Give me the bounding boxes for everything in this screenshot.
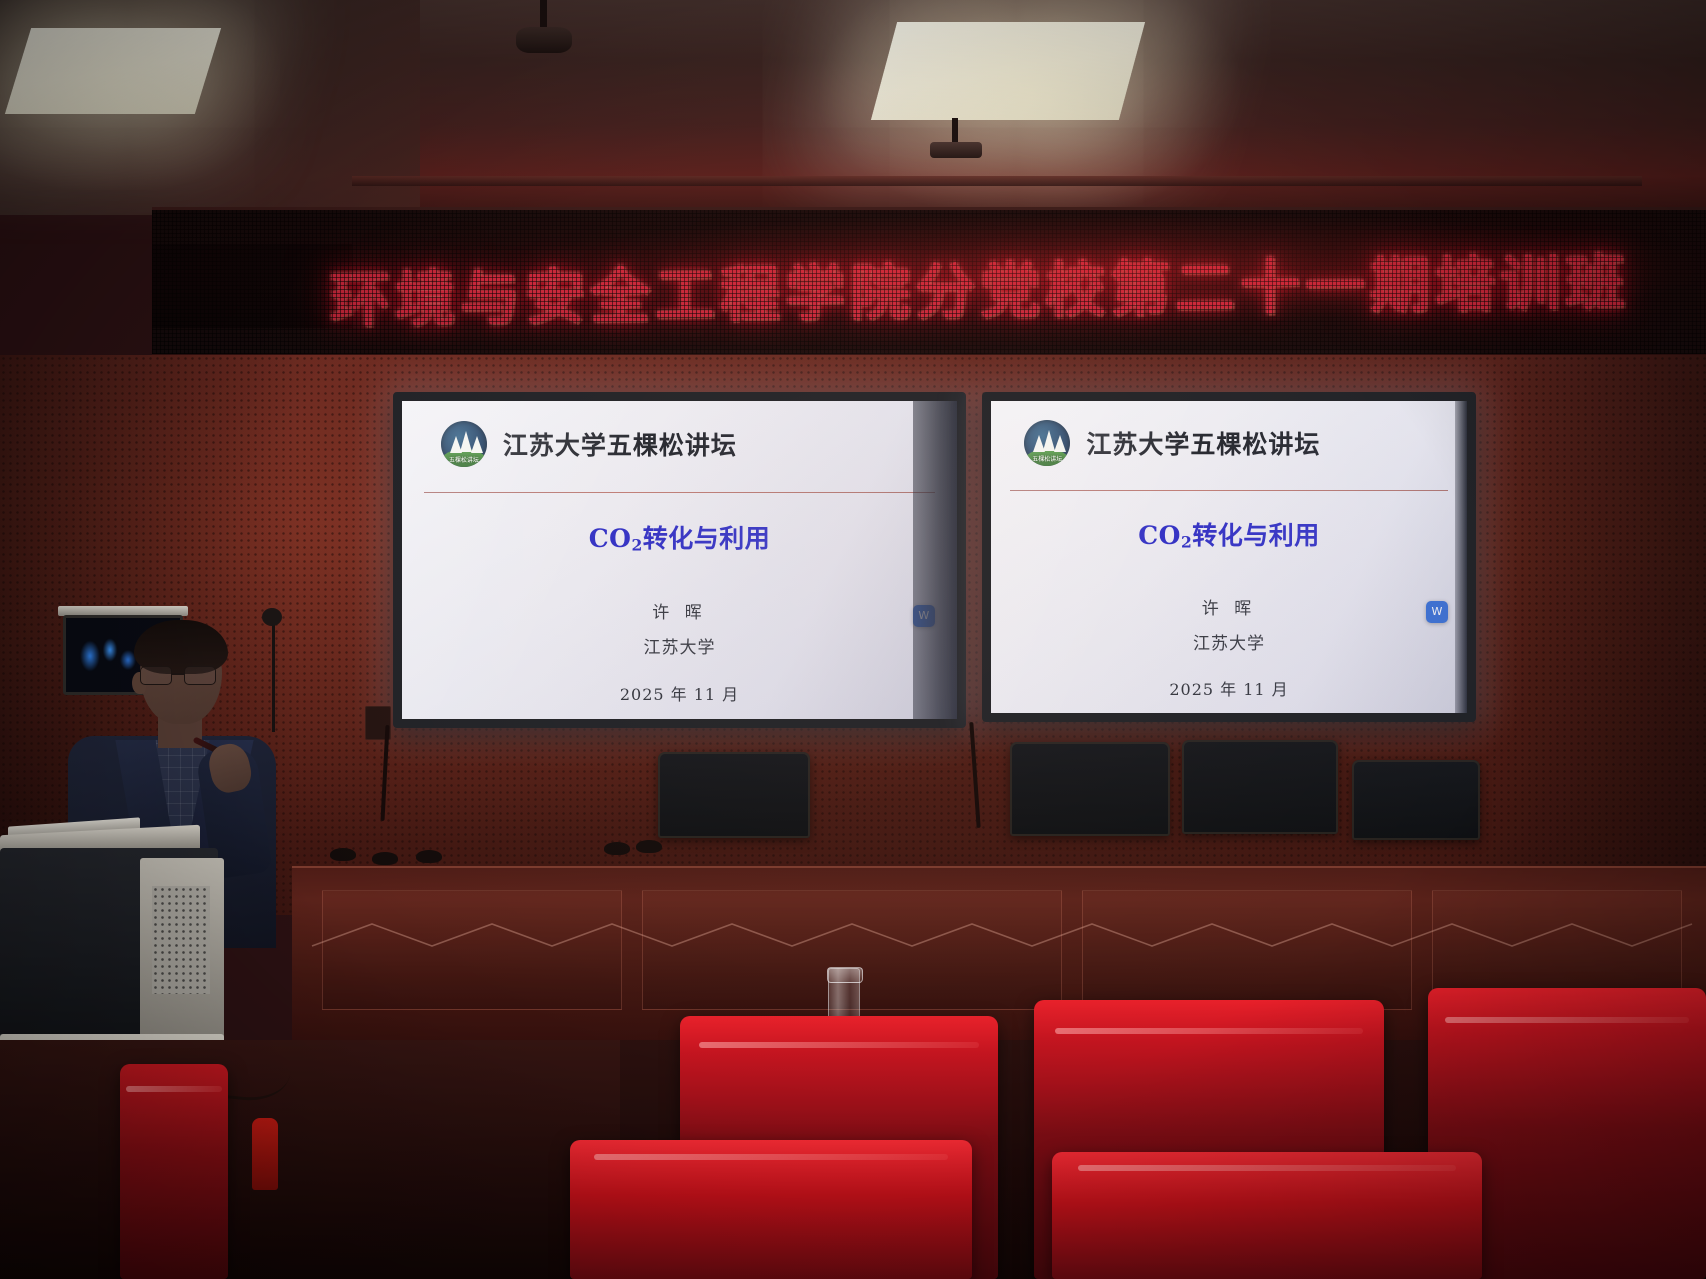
led-banner-housing: 环境与安全工程学院分党校第二十一期培训班 — [152, 207, 1706, 357]
logo-caption: 五棵松讲坛 — [441, 455, 487, 464]
slide-divider-rule — [424, 492, 935, 494]
ceiling-spotlight — [516, 27, 572, 53]
ceiling-light-panel-right — [871, 22, 1145, 120]
slide-left: 五棵松讲坛 江苏大学五棵松讲坛 CO2转化与利用 许 晖 江苏大学 2025 年… — [402, 401, 957, 719]
title-subscript: 2 — [631, 535, 642, 554]
fire-extinguisher — [252, 1118, 278, 1190]
title-prefix: CO — [1138, 521, 1181, 550]
slide-header-right: 五棵松讲坛 江苏大学五棵松讲坛 — [991, 401, 1467, 485]
slide-presenter-name: 许 晖 — [402, 598, 957, 623]
wukesong-forum-logo-icon: 五棵松讲坛 — [441, 421, 487, 467]
slide-date: 2025 年 11 月 — [402, 681, 957, 705]
audience-seat-front — [570, 1140, 972, 1279]
display-right[interactable]: 五棵松讲坛 江苏大学五棵松讲坛 CO2转化与利用 许 晖 江苏大学 2025 年… — [982, 392, 1476, 722]
display-port-row-left[interactable] — [414, 725, 472, 728]
audience-seat — [120, 1064, 228, 1279]
display-port-row-left[interactable] — [1003, 719, 1061, 722]
stage-chair — [1010, 742, 1170, 836]
desk-microphone — [372, 852, 398, 865]
desk-microphone — [636, 840, 662, 853]
slide-presenter-name: 许 晖 — [991, 594, 1467, 619]
speaker-glasses-icon — [138, 666, 222, 686]
wukesong-forum-logo-icon: 五棵松讲坛 — [1024, 420, 1070, 466]
display-port-row-right[interactable] — [899, 725, 941, 728]
desk-microphone — [416, 850, 442, 863]
glass-lid — [827, 967, 863, 983]
ceiling-light-panel-left — [5, 28, 221, 114]
floor-left-area — [0, 1040, 620, 1279]
slide-header-left: 五棵松讲坛 江苏大学五棵松讲坛 — [402, 401, 957, 487]
projector-stem — [952, 118, 958, 144]
title-suffix: 转化与利用 — [1192, 521, 1320, 550]
ceiling-mount-stem — [540, 0, 547, 30]
slide-header-title: 江苏大学五棵松讲坛 — [1086, 425, 1320, 461]
slide-main-title: CO2转化与利用 — [991, 516, 1467, 552]
title-suffix: 转化与利用 — [643, 524, 771, 553]
slide-right: 五棵松讲坛 江苏大学五棵松讲坛 CO2转化与利用 许 晖 江苏大学 2025 年… — [991, 401, 1467, 713]
logo-pine-tree-icon — [1054, 435, 1066, 452]
logo-caption: 五棵松讲坛 — [1024, 454, 1070, 463]
slide-affiliation: 江苏大学 — [991, 629, 1467, 654]
audience-seat-front — [1052, 1152, 1482, 1279]
title-prefix: CO — [589, 524, 632, 553]
slide-affiliation: 江苏大学 — [402, 633, 957, 658]
lectern-speaker-grille — [152, 886, 210, 994]
stage-chair — [658, 752, 810, 838]
desk-microphone — [604, 842, 630, 855]
display-inactive-strip — [1455, 401, 1467, 713]
lecture-hall-photo: 环境与安全工程学院分党校第二十一期培训班 五棵松讲坛 — [0, 0, 1706, 1279]
logo-pine-tree-icon — [471, 436, 483, 453]
desk-microphone — [330, 848, 356, 861]
projector-mount — [930, 142, 982, 158]
title-subscript: 2 — [1181, 533, 1192, 552]
slide-main-title: CO2转化与利用 — [402, 519, 957, 555]
slide-date: 2025 年 11 月 — [991, 676, 1467, 700]
display-brand-label: SEEWO — [1209, 720, 1248, 722]
wall-shadow-right — [1486, 355, 1706, 915]
display-left-chin: SEEWO — [402, 719, 957, 728]
slide-divider-rule — [1010, 490, 1448, 492]
display-right-chin: SEEWO — [991, 713, 1467, 722]
display-inactive-strip — [913, 401, 957, 719]
presentation-app-badge-icon[interactable]: W — [1426, 601, 1448, 623]
desk-zigzag-inlay — [292, 916, 1706, 956]
slide-header-title: 江苏大学五棵松讲坛 — [503, 426, 737, 462]
display-left[interactable]: 五棵松讲坛 江苏大学五棵松讲坛 CO2转化与利用 许 晖 江苏大学 2025 年… — [393, 392, 966, 728]
display-port-row-right[interactable] — [1409, 719, 1451, 722]
ceiling-trim-pipe — [352, 176, 1642, 186]
stage-chair — [1182, 740, 1338, 834]
led-banner-text: 环境与安全工程学院分党校第二十一期培训班 — [420, 230, 1540, 342]
stage-chair — [1352, 760, 1480, 840]
display-brand-label: SEEWO — [660, 726, 699, 728]
led-banner-blank-section — [152, 244, 352, 328]
microphone-stand — [272, 620, 275, 732]
microphone-head — [262, 608, 282, 626]
